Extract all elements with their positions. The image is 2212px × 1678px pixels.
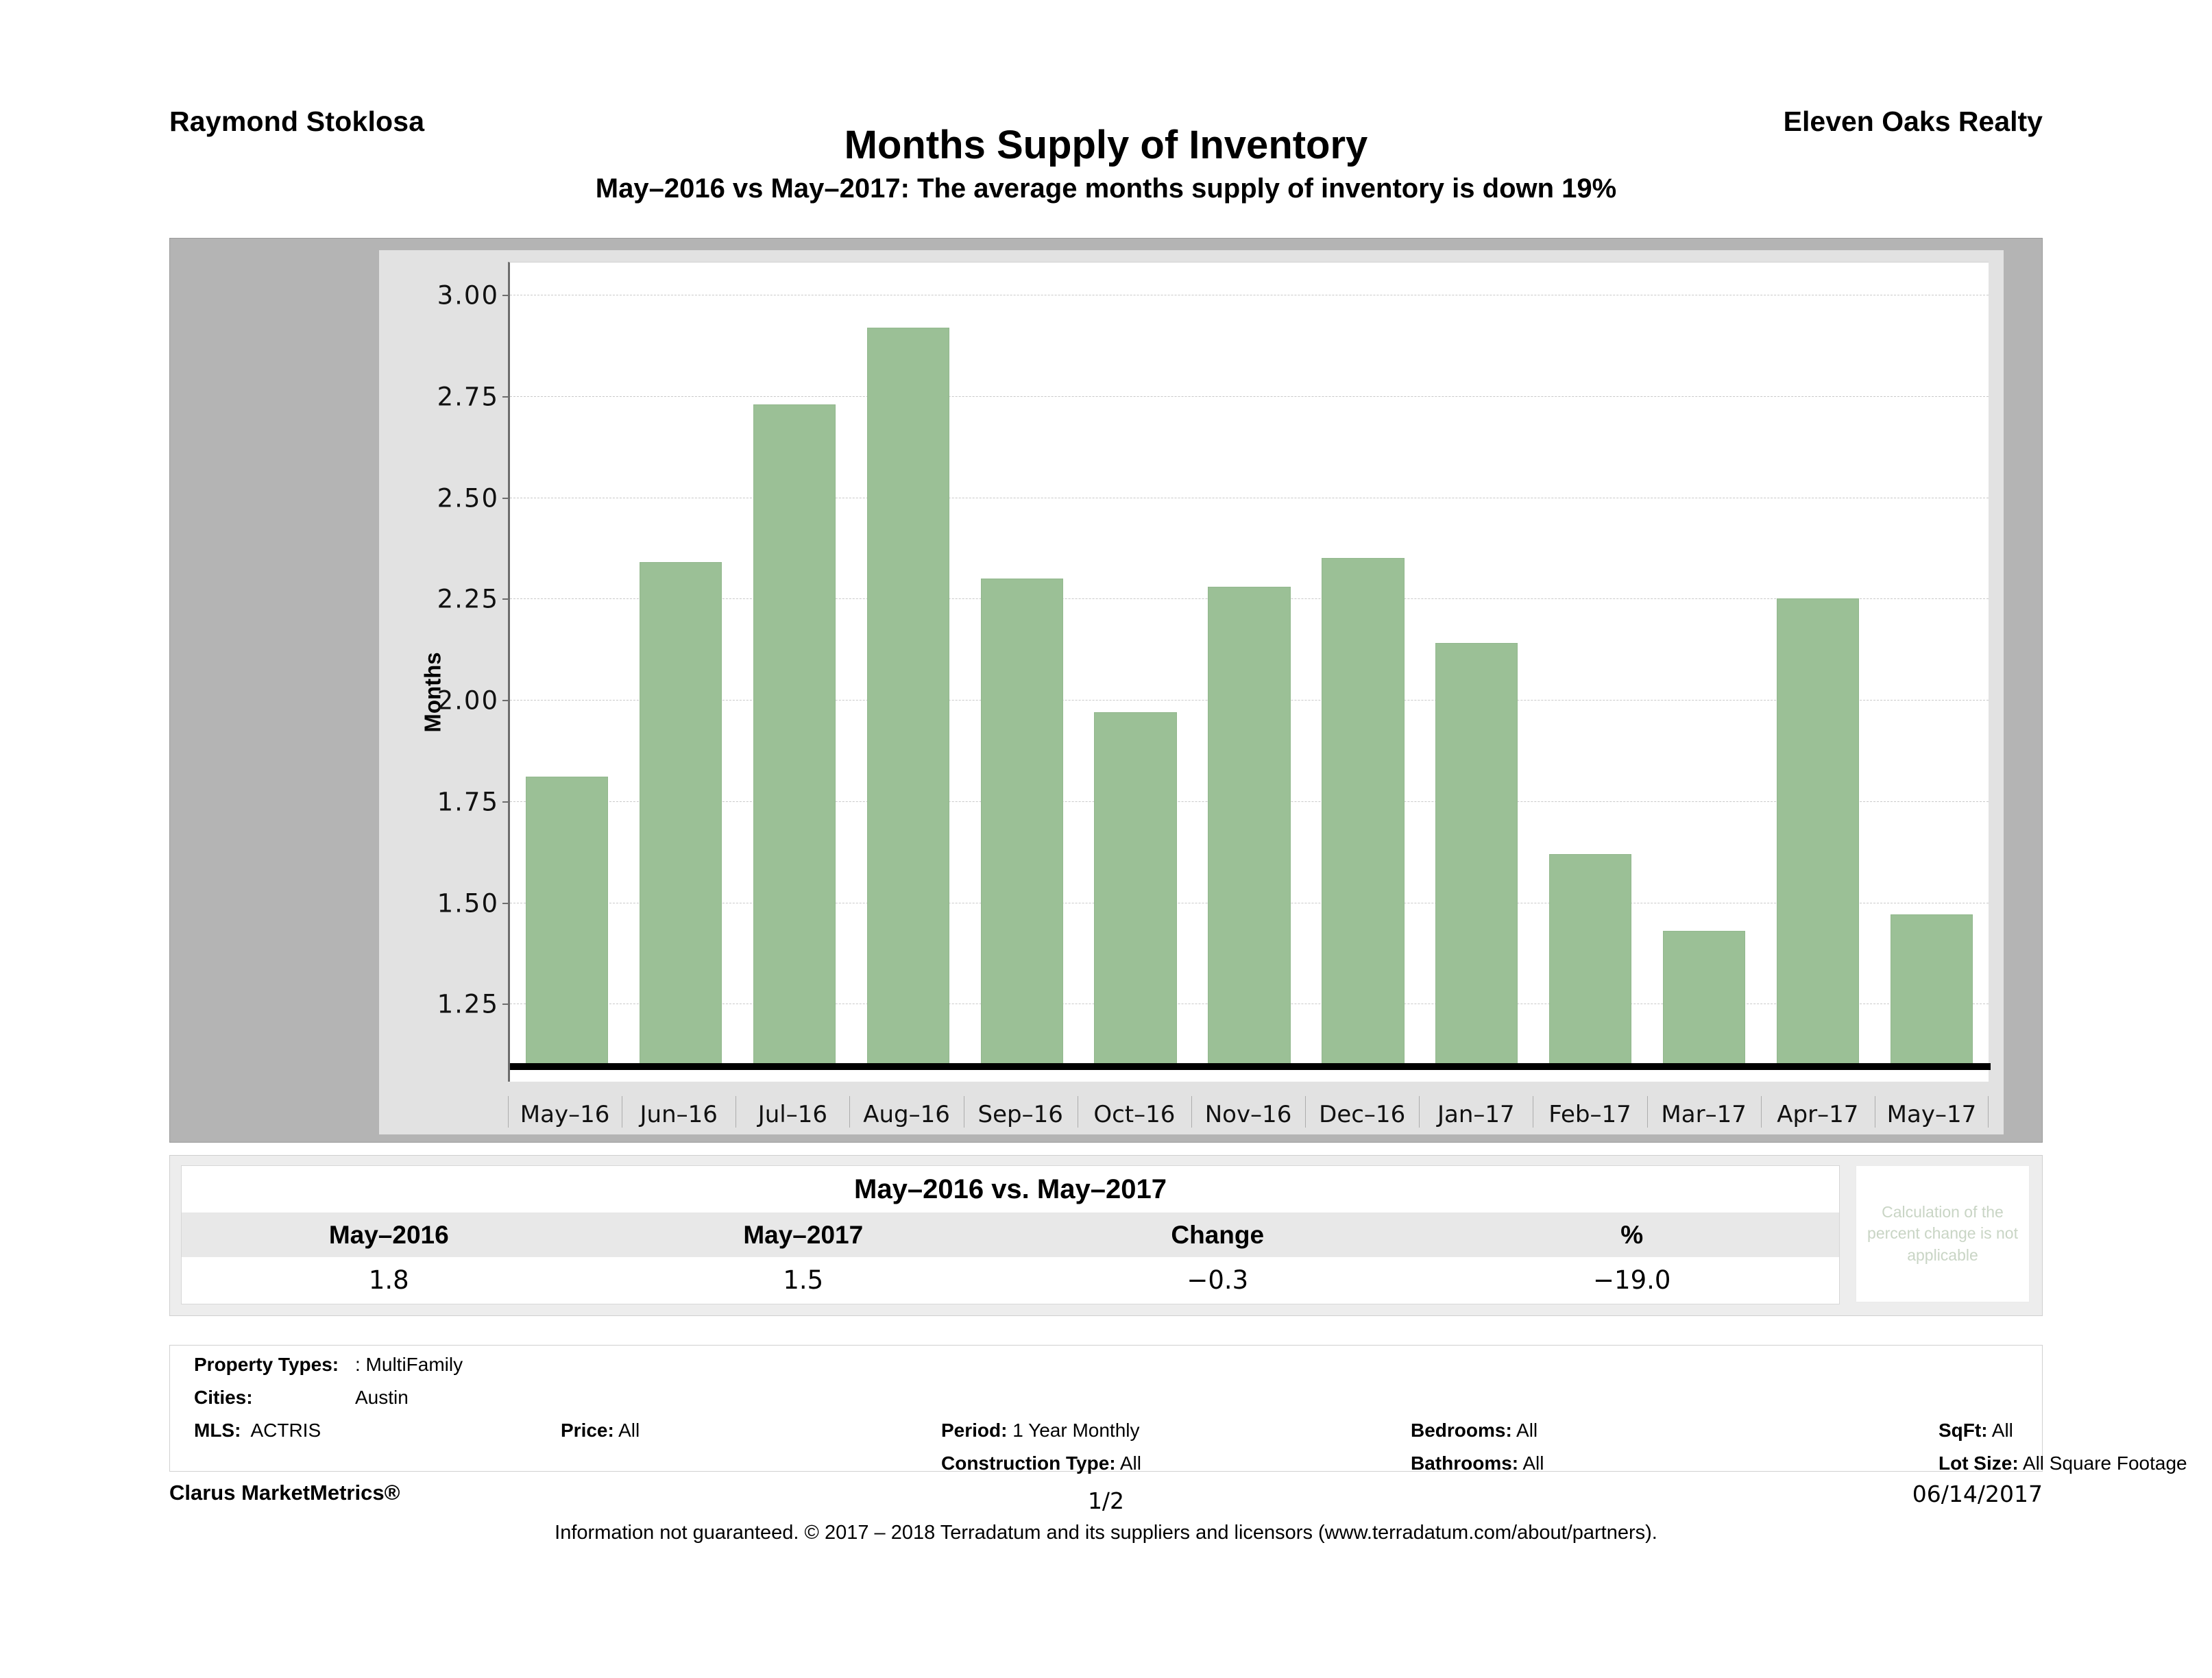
x-axis-tick-label: May–16	[508, 1093, 622, 1136]
bar[interactable]	[981, 579, 1063, 1065]
bar-slot	[1420, 263, 1533, 1065]
bathrooms-field: Bathrooms: All	[1411, 1452, 1544, 1474]
plot-canvas: 3.002.752.502.252.001.751.501.25	[510, 263, 1989, 1065]
x-axis-tick-label: May–17	[1875, 1093, 1989, 1136]
comparison-heading: May–2016 vs. May–2017	[182, 1166, 1839, 1213]
bar-slot	[738, 263, 851, 1065]
bar-slot	[851, 263, 965, 1065]
bar[interactable]	[1208, 587, 1290, 1065]
comparison-table: May–2016 vs. May–2017 May–2016May–2017Ch…	[181, 1165, 1840, 1304]
property-types-label: Property Types:	[194, 1354, 339, 1376]
comparison-value-row: 1.81.5−0.3−19.0	[182, 1257, 1839, 1303]
x-axis-tick-label: Sep–16	[964, 1093, 1078, 1136]
x-axis-line	[510, 1063, 1991, 1070]
lot-size-field: Lot Size: All Square Footage	[1938, 1452, 2187, 1474]
report-header: Raymond Stoklosa Eleven Oaks Realty Mont…	[0, 89, 2212, 233]
y-axis-tick-label: 3.00	[437, 281, 499, 311]
y-axis-tick	[502, 700, 510, 701]
filter-row-cities: Cities: Austin	[170, 1387, 2042, 1420]
price-field: Price: All	[561, 1420, 640, 1442]
bar[interactable]	[526, 777, 608, 1065]
x-axis-tick-label: Dec–16	[1305, 1093, 1419, 1136]
cities-value: Austin	[355, 1387, 409, 1409]
x-axis-tick-label: Mar–17	[1647, 1093, 1761, 1136]
bar[interactable]	[1322, 558, 1404, 1065]
bar[interactable]	[1663, 931, 1745, 1065]
bar[interactable]	[753, 404, 836, 1065]
filters-box: Property Types: : MultiFamily Cities: Au…	[169, 1345, 2043, 1472]
x-axis-tick-label: Apr–17	[1761, 1093, 1875, 1136]
bar[interactable]	[867, 328, 949, 1065]
x-axis-tick-label: Feb–17	[1533, 1093, 1646, 1136]
y-axis-tick	[502, 498, 510, 499]
plot-area: 3.002.752.502.252.001.751.501.25	[508, 262, 1989, 1082]
comparison-cell: 1.8	[182, 1257, 596, 1303]
y-axis-tick-label: 2.75	[437, 382, 499, 412]
bar[interactable]	[1777, 598, 1859, 1065]
bar[interactable]	[1891, 914, 1973, 1065]
comparison-cell: 1.5	[596, 1257, 1011, 1303]
page-subtitle: May–2016 vs May–2017: The average months…	[0, 173, 2212, 204]
y-axis-tick	[502, 396, 510, 398]
y-axis-tick-label: 2.25	[437, 585, 499, 614]
bar-slot	[1533, 263, 1647, 1065]
y-axis-tick	[502, 295, 510, 296]
property-types-value: : MultiFamily	[355, 1354, 463, 1376]
mls-field: MLS: ACTRIS	[194, 1420, 321, 1442]
report-date: 06/14/2017	[1912, 1481, 2043, 1507]
period-field: Period: 1 Year Monthly	[941, 1420, 1140, 1442]
comparison-column-header: May–2016	[182, 1213, 596, 1257]
bar[interactable]	[1094, 712, 1176, 1065]
comparison-column-header: Change	[1010, 1213, 1425, 1257]
bedrooms-field: Bedrooms: All	[1411, 1420, 1538, 1442]
x-axis-tick-label: Nov–16	[1191, 1093, 1305, 1136]
bar-series	[510, 263, 1989, 1065]
bar[interactable]	[1549, 854, 1631, 1065]
filter-row-property-types: Property Types: : MultiFamily	[170, 1354, 2042, 1387]
bar-slot	[1079, 263, 1193, 1065]
bar-slot	[624, 263, 738, 1065]
bar-slot	[510, 263, 624, 1065]
comparison-header-row: May–2016May–2017Change%	[182, 1213, 1839, 1257]
x-axis-tick-label: Aug–16	[849, 1093, 963, 1136]
y-axis-tick	[502, 598, 510, 600]
construction-type-field: Construction Type: All	[941, 1452, 1141, 1474]
y-axis-tick	[502, 903, 510, 904]
x-axis-labels: May–16Jun–16Jul–16Aug–16Sep–16Oct–16Nov–…	[508, 1093, 1989, 1136]
comparison-section: May–2016 vs. May–2017 May–2016May–2017Ch…	[169, 1155, 2043, 1316]
footer-disclaimer: Information not guaranteed. © 2017 – 201…	[0, 1522, 2212, 1544]
bar-slot	[1647, 263, 1761, 1065]
x-axis-tick-label: Oct–16	[1078, 1093, 1191, 1136]
comparison-column-header: May–2017	[596, 1213, 1011, 1257]
chart-frame: Months 3.002.752.502.252.001.751.501.25 …	[169, 238, 2043, 1143]
bar-slot	[1193, 263, 1306, 1065]
page-number: 1/2	[0, 1487, 2212, 1514]
comparison-cell: −0.3	[1010, 1257, 1425, 1303]
y-axis-tick	[502, 801, 510, 803]
calculation-note: Calculation of the percent change is not…	[1856, 1165, 2030, 1302]
x-axis-tick-label: Jun–16	[622, 1093, 736, 1136]
comparison-column-header: %	[1425, 1213, 1840, 1257]
y-axis-tick-label: 1.75	[437, 787, 499, 816]
y-axis-tick-label: 1.25	[437, 990, 499, 1019]
bar-slot	[1306, 263, 1420, 1065]
x-axis-tick-label: Jul–16	[736, 1093, 849, 1136]
bar[interactable]	[1435, 643, 1518, 1065]
y-axis-tick-label: 2.00	[437, 686, 499, 716]
bar-slot	[1761, 263, 1875, 1065]
filter-row-secondary: Construction Type: All Bathrooms: All Lo…	[170, 1452, 2042, 1485]
sqft-field: SqFt: All	[1938, 1420, 2013, 1442]
comparison-cell: −19.0	[1425, 1257, 1840, 1303]
y-axis-tick-label: 1.50	[437, 888, 499, 918]
y-axis-tick	[502, 1004, 510, 1005]
page-title: Months Supply of Inventory	[0, 122, 2212, 168]
bar[interactable]	[640, 562, 722, 1065]
filter-row-primary: MLS: ACTRIS Price: All Period: 1 Year Mo…	[170, 1420, 2042, 1452]
y-axis-tick-label: 2.50	[437, 483, 499, 513]
chart-panel: Months 3.002.752.502.252.001.751.501.25 …	[379, 250, 2004, 1134]
bar-slot	[1875, 263, 1989, 1065]
cities-label: Cities:	[194, 1387, 253, 1409]
x-axis-tick-label: Jan–17	[1419, 1093, 1533, 1136]
bar-slot	[965, 263, 1079, 1065]
